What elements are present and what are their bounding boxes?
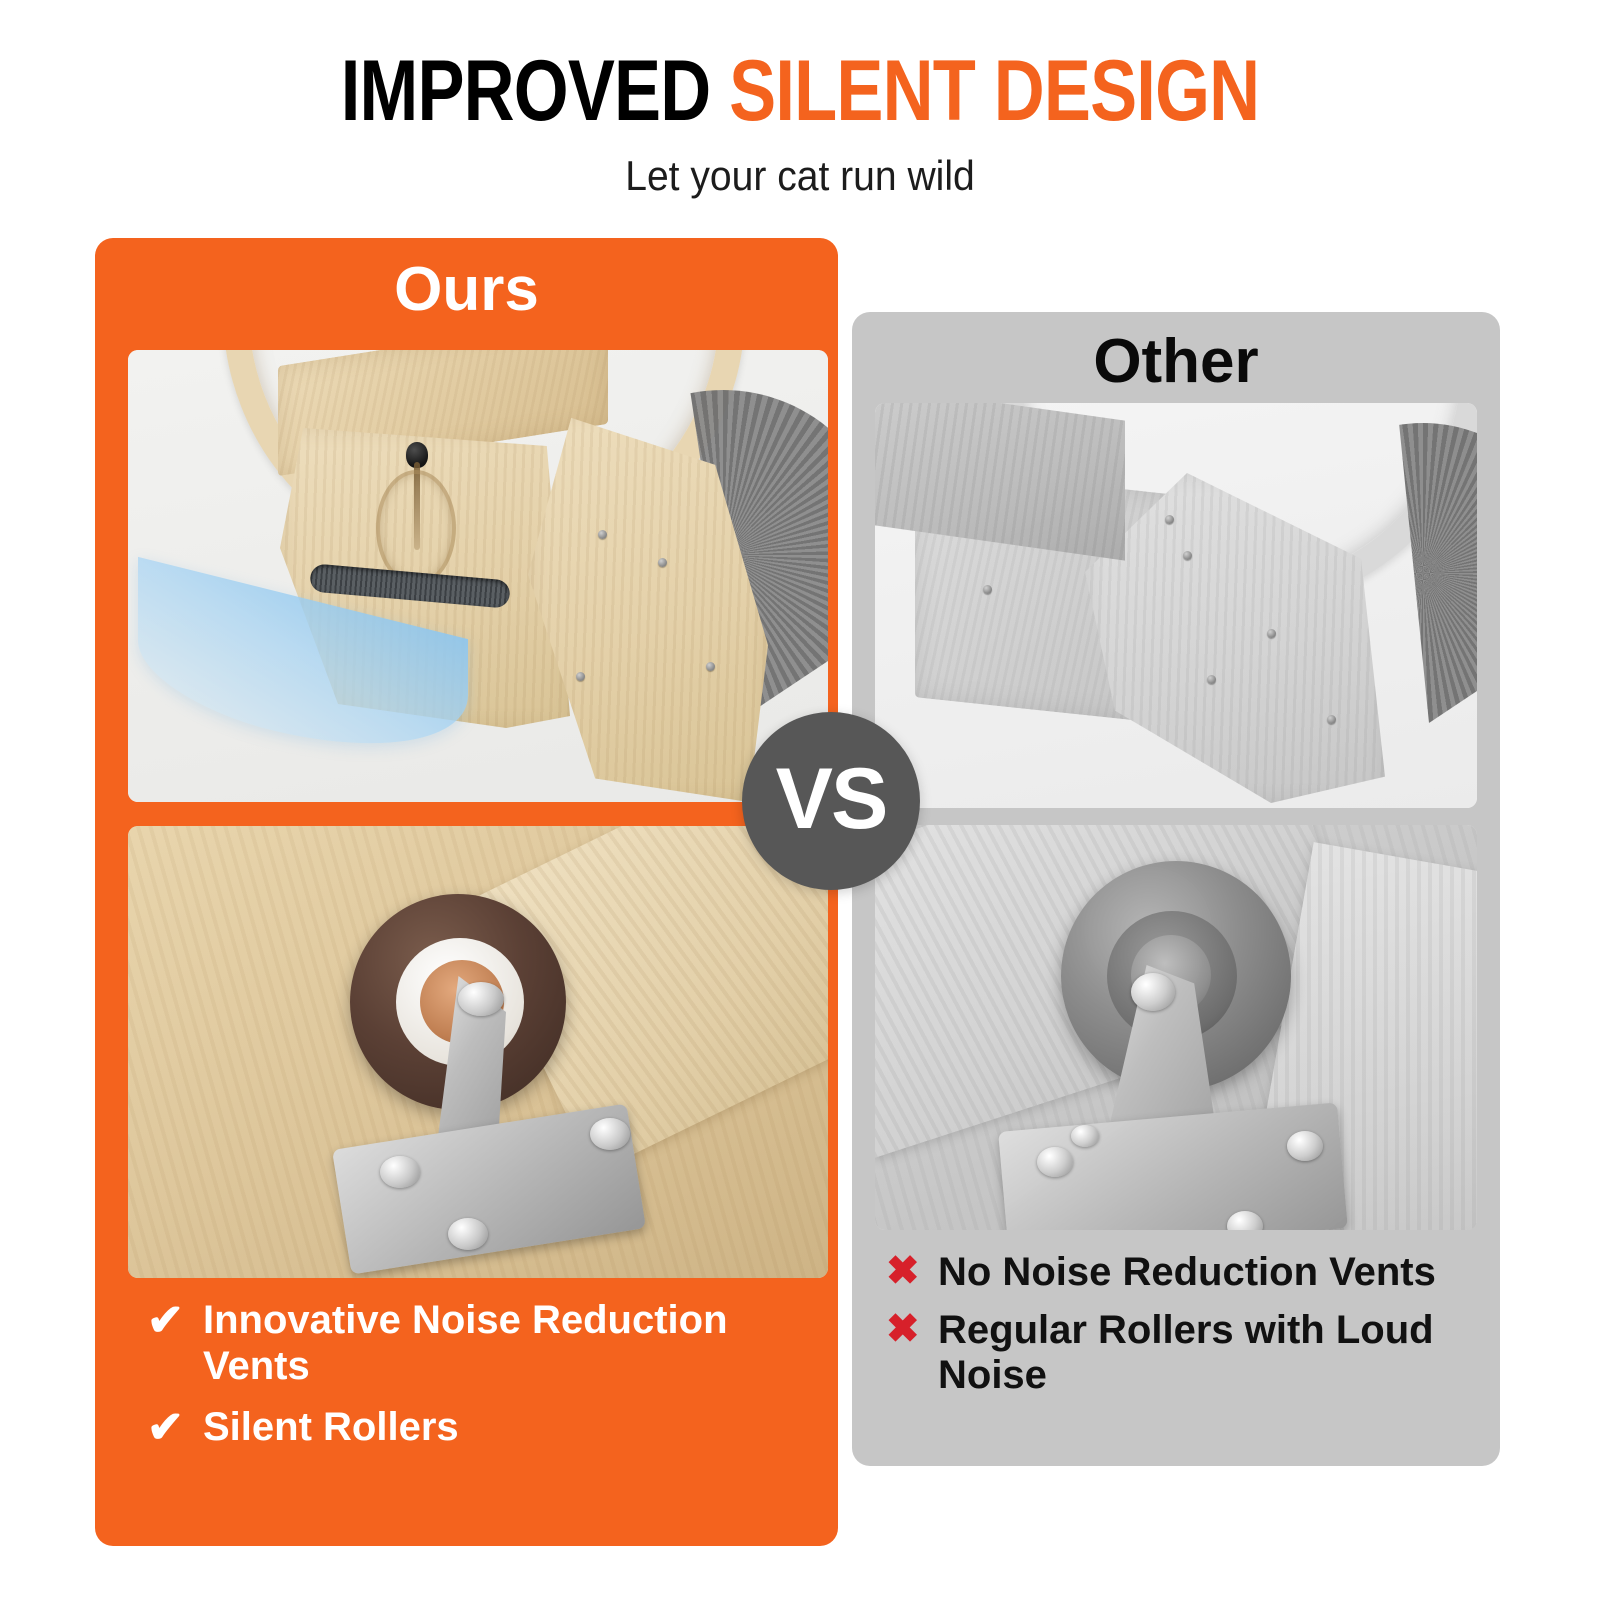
vs-label: VS <box>776 756 887 842</box>
feature-row: ✖ Regular Rollers with Loud Noise <box>886 1308 1480 1399</box>
vs-badge: VS <box>742 712 920 890</box>
cross-icon: ✖ <box>886 1308 938 1350</box>
panel-ours: Ours <box>95 238 838 1546</box>
check-icon: ✔ <box>147 1405 203 1451</box>
feature-row: ✖ No Noise Reduction Vents <box>886 1250 1480 1296</box>
panel-other-title: Other <box>852 326 1500 397</box>
feature-row: ✔ Innovative Noise Reduction Vents <box>147 1298 812 1389</box>
feature-text: Regular Rollers with Loud Noise <box>938 1308 1480 1399</box>
feature-text: Innovative Noise Reduction Vents <box>203 1298 812 1389</box>
ours-roller-photo <box>128 826 828 1278</box>
panel-other: Other <box>852 312 1500 1466</box>
other-base-photo <box>875 403 1477 808</box>
check-icon: ✔ <box>147 1298 203 1344</box>
feature-row: ✔ Silent Rollers <box>147 1405 812 1451</box>
ours-feature-list: ✔ Innovative Noise Reduction Vents ✔ Sil… <box>95 1298 838 1467</box>
feature-text: No Noise Reduction Vents <box>938 1250 1436 1296</box>
panel-ours-title: Ours <box>95 254 838 325</box>
ours-vent-photo <box>128 350 828 802</box>
comparison-section: Ours <box>0 0 1600 1600</box>
other-roller-photo <box>875 825 1477 1230</box>
other-feature-list: ✖ No Noise Reduction Vents ✖ Regular Rol… <box>852 1250 1500 1411</box>
cross-icon: ✖ <box>886 1250 938 1292</box>
feature-text: Silent Rollers <box>203 1405 459 1451</box>
